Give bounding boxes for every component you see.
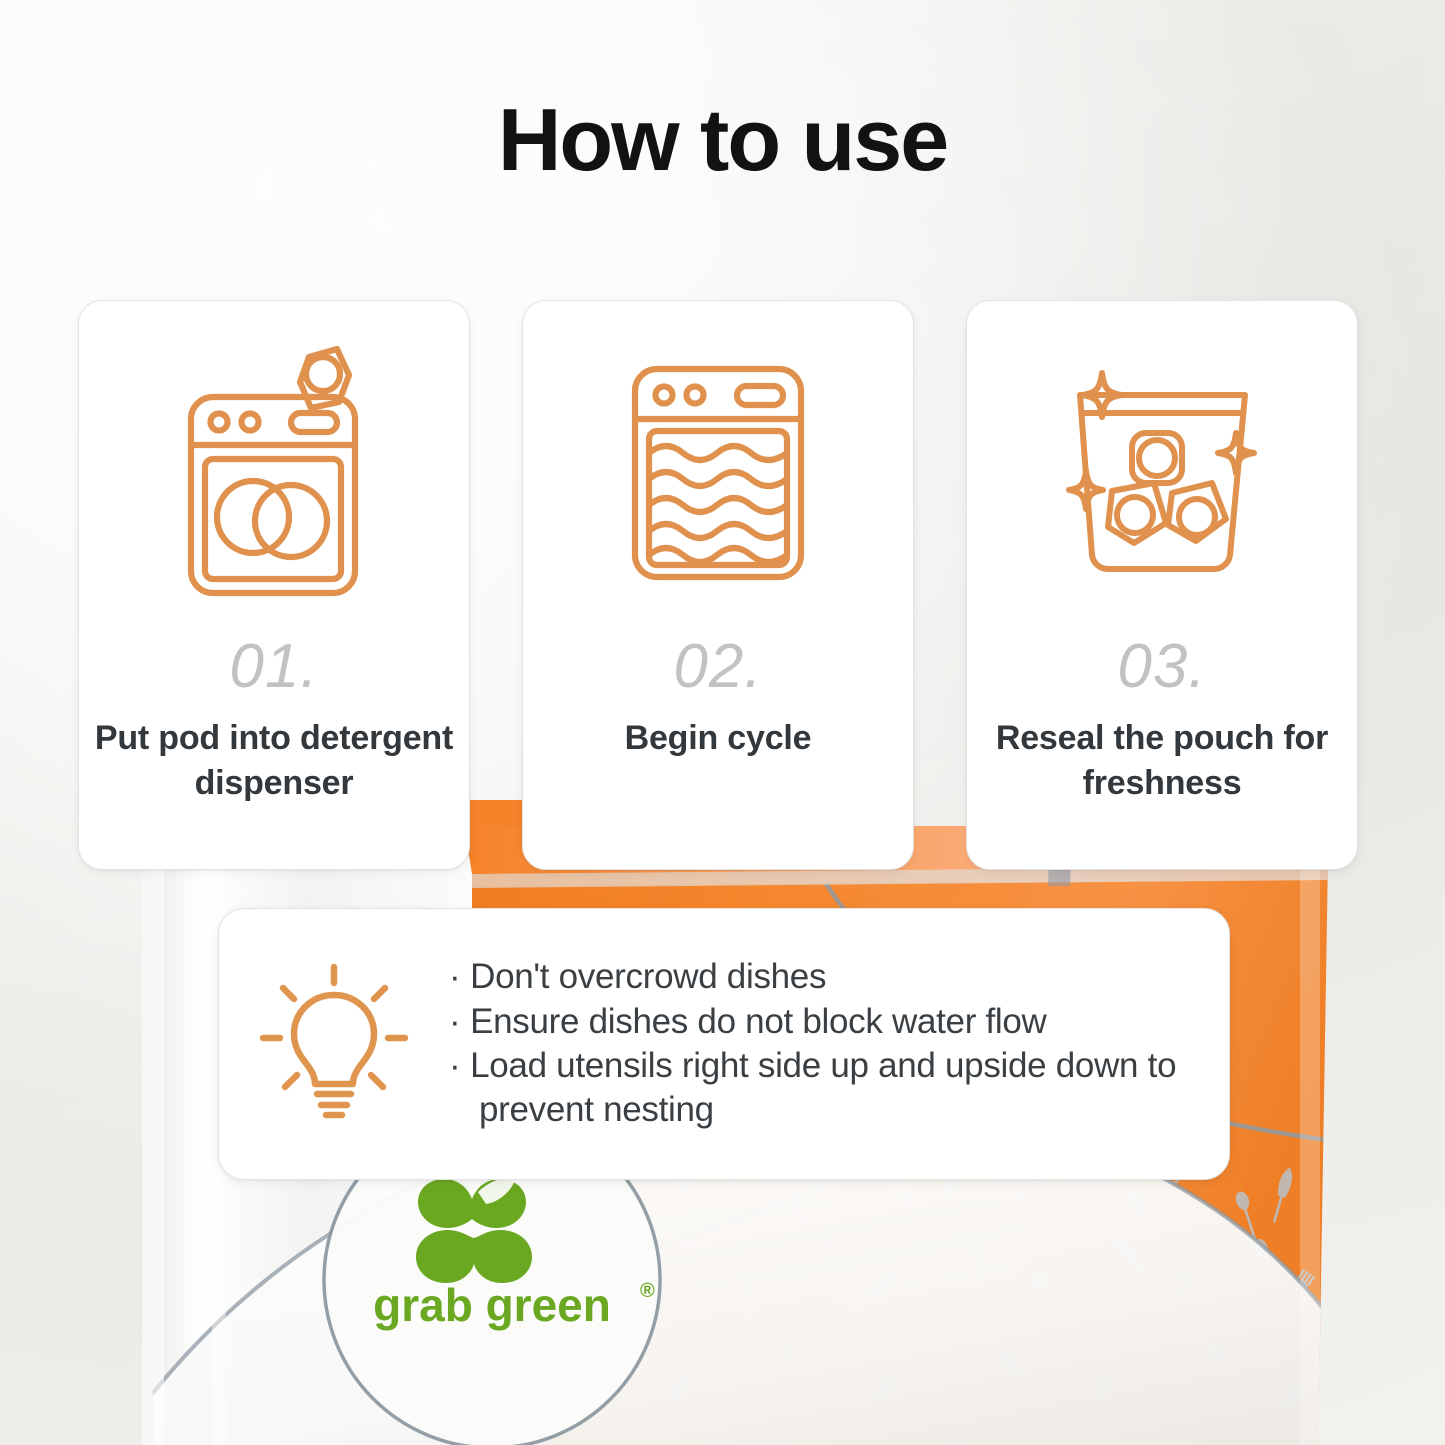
step-card-1: 01. Put pod into detergent dispenser: [78, 300, 470, 870]
tip-item: · Don't overcrowd dishes: [449, 955, 1203, 999]
tip-text: Load utensils right side up and upside d…: [470, 1046, 1176, 1129]
tips-card: · Don't overcrowd dishes · Ensure dishes…: [218, 908, 1230, 1180]
step-card-2: 02. Begin cycle: [522, 300, 914, 870]
step-number: 02.: [523, 631, 913, 702]
resealable-pouch-with-pods-icon: [967, 329, 1357, 619]
bullet-icon: ·: [449, 957, 461, 996]
brand-name: grab green: [373, 1279, 611, 1331]
tip-text: Don't overcrowd dishes: [470, 957, 826, 996]
dishwasher-with-pod-icon: [79, 329, 469, 619]
lightbulb-icon: [219, 963, 449, 1125]
infographic-canvas: grab green ® How to use: [0, 0, 1445, 1445]
step-number: 01.: [79, 631, 469, 702]
bullet-icon: ·: [449, 1002, 461, 1041]
step-label: Begin cycle: [537, 716, 899, 761]
tip-text: Ensure dishes do not block water flow: [470, 1002, 1046, 1041]
bullet-icon: ·: [449, 1046, 461, 1085]
tip-item: · Ensure dishes do not block water flow: [449, 1000, 1203, 1044]
step-label: Put pod into detergent dispenser: [93, 716, 455, 806]
tip-item: · Load utensils right side up and upside…: [449, 1044, 1203, 1133]
tips-list: · Don't overcrowd dishes · Ensure dishes…: [449, 955, 1229, 1133]
trademark-symbol: ®: [640, 1280, 655, 1302]
step-card-3: 03. Reseal the pouch for freshness: [966, 300, 1358, 870]
page-title: How to use: [0, 96, 1445, 184]
step-number: 03.: [967, 631, 1357, 702]
step-label: Reseal the pouch for freshness: [981, 716, 1343, 806]
dishwasher-running-water-icon: [523, 329, 913, 619]
